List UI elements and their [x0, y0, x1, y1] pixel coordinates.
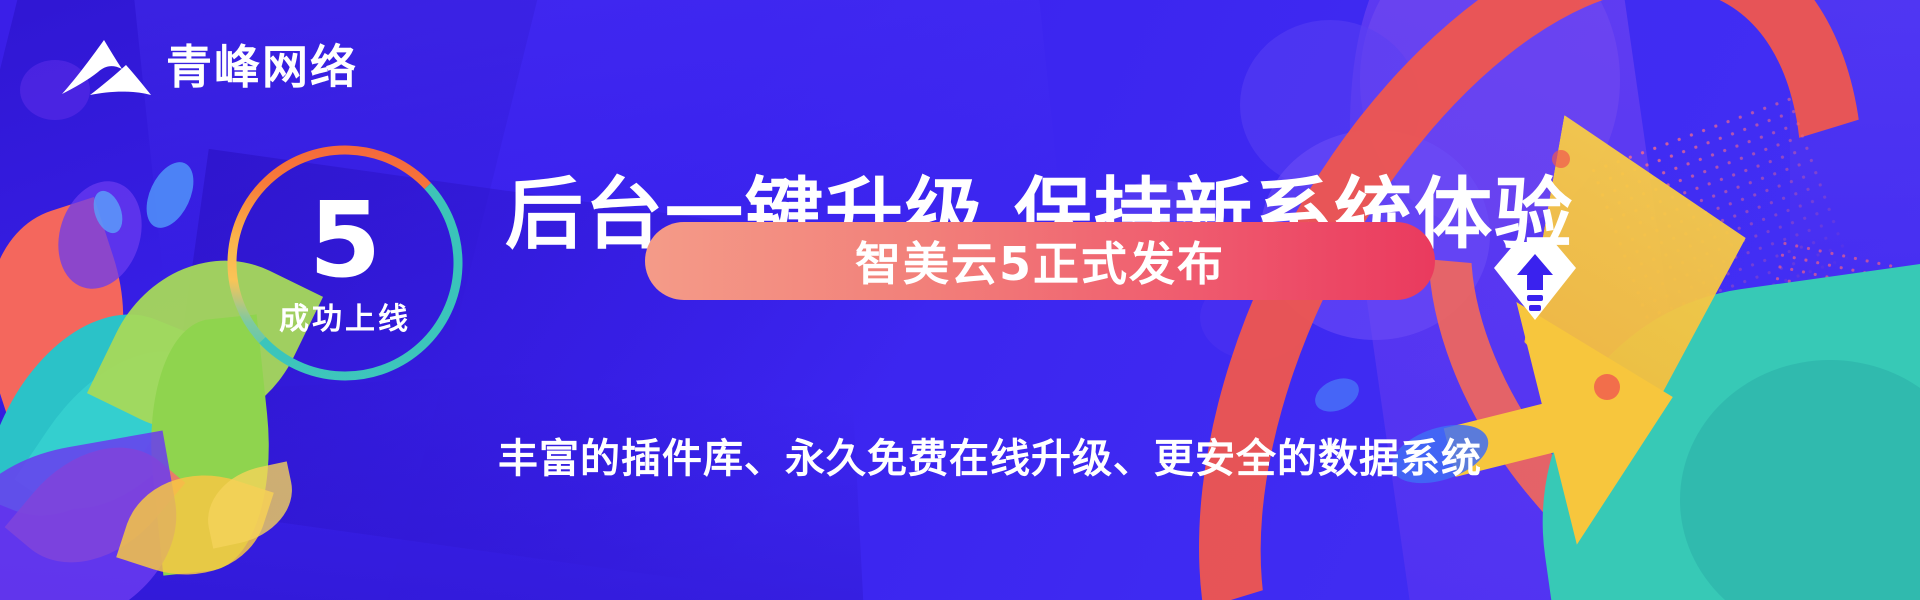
badge-caption: 成功上线 — [279, 294, 411, 338]
release-pill[interactable]: 智美云5正式发布 — [645, 222, 1435, 300]
upgrade-arrow-diamond-icon — [1490, 230, 1580, 326]
banner-content: 青峰网络 — [0, 0, 1920, 600]
brand-logo[interactable]: 青峰网络 — [60, 36, 358, 98]
release-pill-label: 智美云5正式发布 — [855, 228, 1225, 294]
badge-content: 5 成功上线 — [222, 140, 468, 386]
promo-banner: 青峰网络 — [0, 0, 1920, 600]
tagline: 丰富的插件库、永久免费在线升级、更安全的数据系统 — [498, 435, 1498, 483]
launch-badge: 5 成功上线 — [222, 140, 468, 386]
mountain-peak-icon — [60, 36, 152, 98]
brand-name: 青峰网络 — [166, 44, 358, 90]
badge-version-number: 5 — [309, 194, 381, 288]
